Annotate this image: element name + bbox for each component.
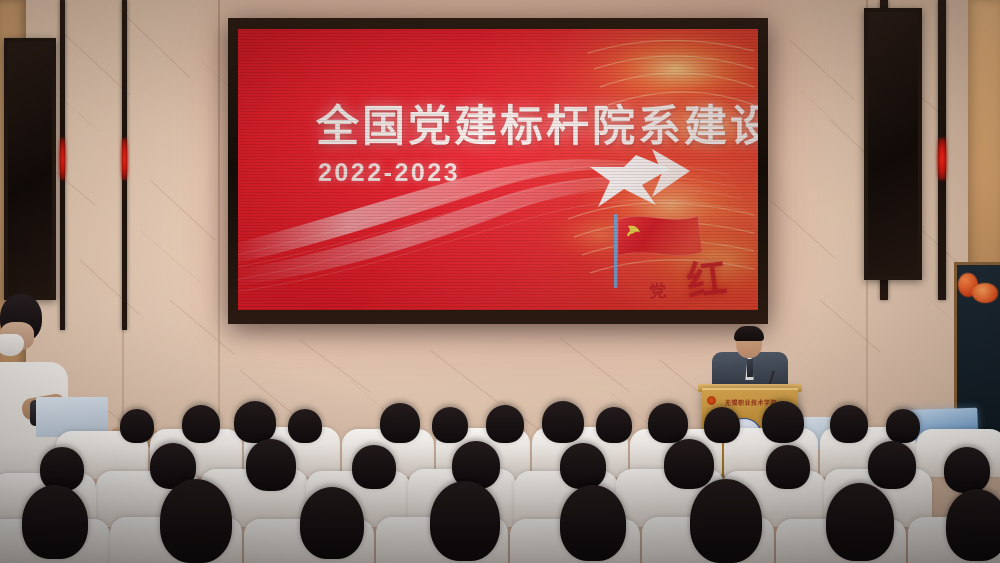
- audience-head: [762, 401, 804, 443]
- wall-art-panel-left: [4, 38, 56, 300]
- led-screen-display[interactable]: 全国党建标杆院系建设 2022-2023: [238, 29, 758, 310]
- audience-head: [830, 405, 868, 443]
- audience-head: [432, 407, 468, 443]
- face-mask-icon: [0, 334, 24, 356]
- wall-groove-led: [122, 0, 127, 330]
- audience-head: [946, 489, 1000, 561]
- audience-head: [300, 487, 364, 559]
- speaker-hair: [734, 326, 764, 341]
- audience-head: [160, 479, 232, 563]
- audience-seating: [0, 403, 1000, 563]
- audience-head: [766, 445, 810, 489]
- audience-head: [664, 439, 714, 489]
- audience-head: [826, 483, 894, 561]
- audience-head: [40, 447, 84, 491]
- audience-head: [288, 409, 322, 443]
- audience-head: [486, 405, 524, 443]
- audience-head: [120, 409, 154, 443]
- audience-head: [182, 405, 220, 443]
- wall-art-panel-right: [864, 8, 922, 280]
- audience-head: [22, 485, 88, 559]
- conference-hall-scene: 全国党建标杆院系建设 2022-2023: [0, 0, 1000, 563]
- audience-head: [690, 479, 762, 563]
- audience-head: [352, 445, 396, 489]
- audience-head: [944, 447, 990, 493]
- red-decoration-icon: [972, 283, 998, 303]
- led-screen-bezel: 全国党建标杆院系建设 2022-2023: [228, 18, 768, 324]
- right-side-wall-band: [968, 0, 1000, 300]
- slide-title: 全国党建标杆院系建设: [316, 92, 758, 154]
- calligraphy-seal: 党: [648, 276, 667, 302]
- audience-head: [234, 401, 276, 443]
- audience-head: [246, 439, 296, 491]
- wall-groove-led: [938, 0, 946, 300]
- audience-head: [868, 441, 916, 489]
- audience-head: [886, 409, 920, 443]
- speaker-tie: [747, 359, 753, 377]
- audience-head: [704, 407, 740, 443]
- audience-head: [560, 443, 606, 489]
- audience-head: [648, 403, 688, 443]
- audience-head: [430, 481, 500, 561]
- audience-head: [596, 407, 632, 443]
- wall-groove-led: [60, 0, 65, 330]
- audience-head: [560, 485, 626, 561]
- audience-head: [542, 401, 584, 443]
- audience-head: [380, 403, 420, 443]
- slide-subtitle: 2022-2023: [318, 159, 460, 188]
- calligraphy-hong: 红: [683, 246, 730, 308]
